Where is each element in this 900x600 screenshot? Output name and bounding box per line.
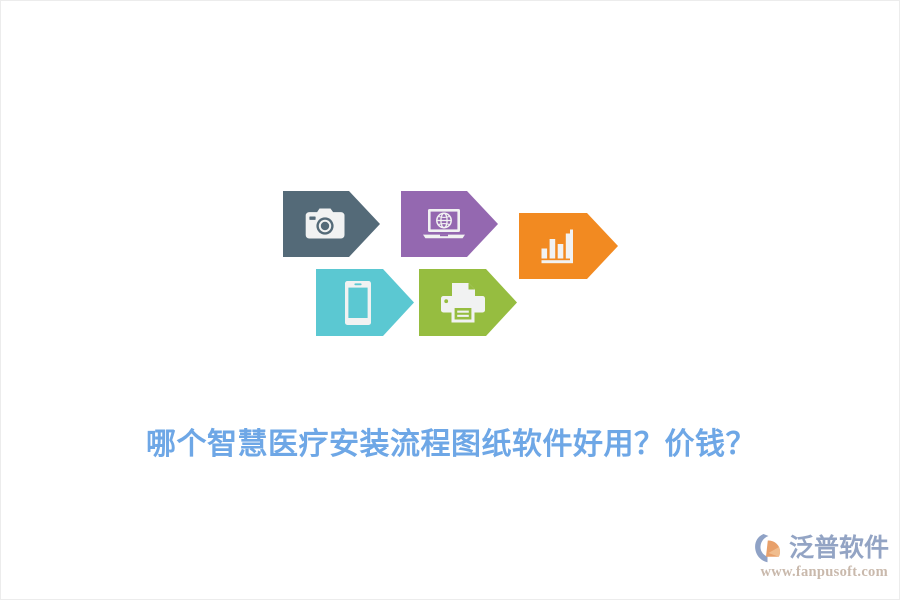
page-title: 哪个智慧医疗安装流程图纸软件好用？价钱？: [1, 419, 900, 463]
watermark-url: www.fanpusoft.com: [749, 564, 889, 581]
chevron-chart: [519, 213, 618, 279]
chevron-camera: [283, 191, 380, 257]
chevron-printer: [419, 269, 517, 336]
watermark-brand-row: 泛普软件: [749, 531, 889, 565]
printer-icon: [438, 281, 488, 325]
chevron-laptop: [401, 191, 498, 257]
smartphone-icon: [343, 280, 373, 326]
chevron-icon-group: [283, 189, 623, 339]
bar-chart-icon: [539, 227, 579, 265]
screenshot-canvas: 哪个智慧医疗安装流程图纸软件好用？价钱？ 泛普软件 www.fanpusoft.…: [0, 0, 900, 600]
camera-icon: [303, 206, 347, 242]
watermark-logo: 泛普软件 www.fanpusoft.com: [749, 531, 889, 587]
chevron-phone: [316, 269, 414, 336]
laptop-globe-icon: [419, 206, 469, 242]
fanpu-logo-icon: [754, 532, 788, 564]
watermark-brand-name: 泛普软件: [789, 533, 889, 563]
